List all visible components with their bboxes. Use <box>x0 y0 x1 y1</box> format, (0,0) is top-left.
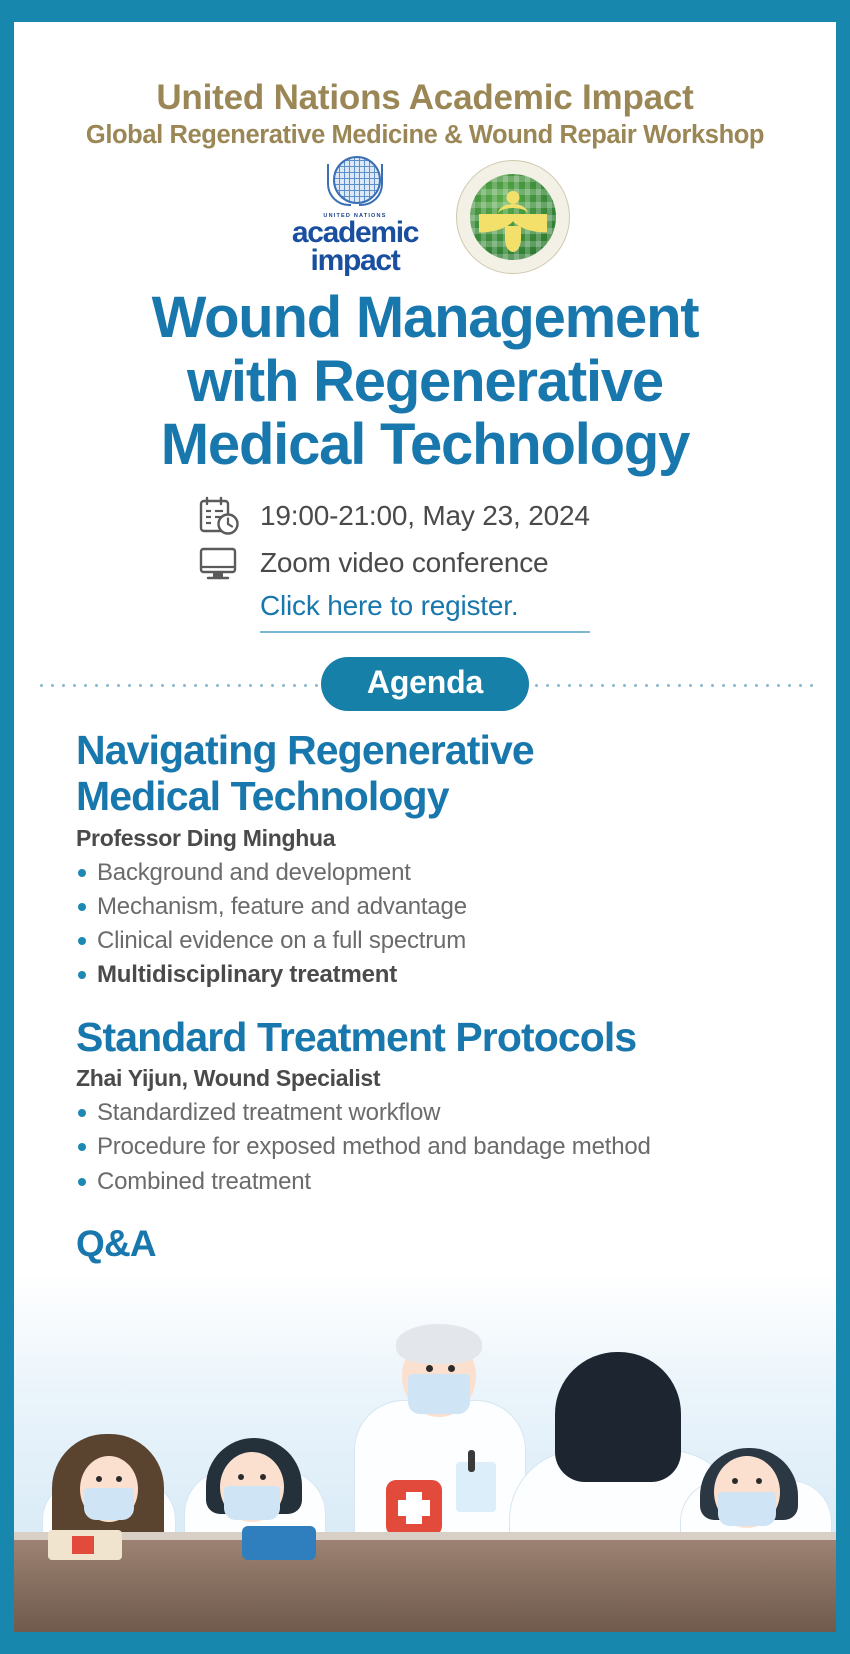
list-item: Background and development <box>76 856 800 890</box>
section-title: Standard Treatment Protocols <box>76 1014 800 1060</box>
monitor-icon <box>198 543 242 583</box>
section-title: Navigating Regenerative Medical Technolo… <box>76 727 800 820</box>
section-title-line-1: Standard Treatment Protocols <box>76 1014 800 1060</box>
title-line-1: Wound Management <box>14 286 836 349</box>
register-underline <box>260 631 590 633</box>
list-item: Procedure for exposed method and bandage… <box>76 1130 800 1164</box>
workshop-subtitle: Global Regenerative Medicine & Wound Rep… <box>14 121 836 150</box>
agenda-section: Navigating Regenerative Medical Technolo… <box>76 727 800 992</box>
qa-heading: Q&A <box>76 1223 800 1265</box>
section-bullets: Background and development Mechanism, fe… <box>76 856 800 992</box>
organization-title: United Nations Academic Impact <box>14 80 836 116</box>
agenda-divider: Agenda <box>14 657 836 711</box>
regenerative-medicine-society-logo <box>456 160 570 274</box>
section-title-line-2: Medical Technology <box>76 773 800 819</box>
agenda-badge: Agenda <box>321 657 529 711</box>
title-line-2: with Regenerative <box>14 350 836 413</box>
event-platform: Zoom video conference <box>260 547 548 579</box>
un-logo-line2: impact <box>311 247 400 275</box>
poster-header: United Nations Academic Impact Global Re… <box>14 22 836 150</box>
list-item: Clinical evidence on a full spectrum <box>76 924 800 958</box>
register-link[interactable]: Click here to register. <box>260 590 518 622</box>
table-surface <box>14 1540 836 1632</box>
section-speaker: Professor Ding Minghua <box>76 825 800 852</box>
agenda-sections: Navigating Regenerative Medical Technolo… <box>14 711 836 1265</box>
list-item: Multidisciplinary treatment <box>76 958 800 992</box>
logo-row: UNITED NATIONS academic impact <box>14 164 836 274</box>
section-speaker: Zhai Yijun, Wound Specialist <box>76 1065 800 1092</box>
calendar-clock-icon <box>198 496 242 536</box>
event-datetime: 19:00-21:00, May 23, 2024 <box>260 500 590 532</box>
event-details: 19:00-21:00, May 23, 2024 Zoom video con… <box>14 496 836 633</box>
title-line-3: Medical Technology <box>14 413 836 476</box>
un-logo-line1: academic <box>292 219 418 247</box>
list-item: Standardized treatment workflow <box>76 1096 800 1130</box>
platform-row: Zoom video conference <box>198 543 836 583</box>
list-item: Combined treatment <box>76 1165 800 1199</box>
list-item: Mechanism, feature and advantage <box>76 890 800 924</box>
datetime-row: 19:00-21:00, May 23, 2024 <box>198 496 836 536</box>
first-aid-cross <box>72 1536 94 1554</box>
agenda-section: Standard Treatment Protocols Zhai Yijun,… <box>76 1014 800 1199</box>
medical-team-illustration <box>14 1272 836 1632</box>
page-title: Wound Management with Regenerative Medic… <box>14 286 836 476</box>
register-row[interactable]: Click here to register. <box>260 590 836 622</box>
un-academic-impact-logo: UNITED NATIONS academic impact <box>280 154 430 275</box>
un-emblem-icon <box>325 154 385 206</box>
poster-canvas: United Nations Academic Impact Global Re… <box>14 22 836 1632</box>
medical-box <box>242 1526 316 1560</box>
section-title-line-1: Navigating Regenerative <box>76 727 800 773</box>
section-bullets: Standardized treatment workflow Procedur… <box>76 1096 800 1198</box>
